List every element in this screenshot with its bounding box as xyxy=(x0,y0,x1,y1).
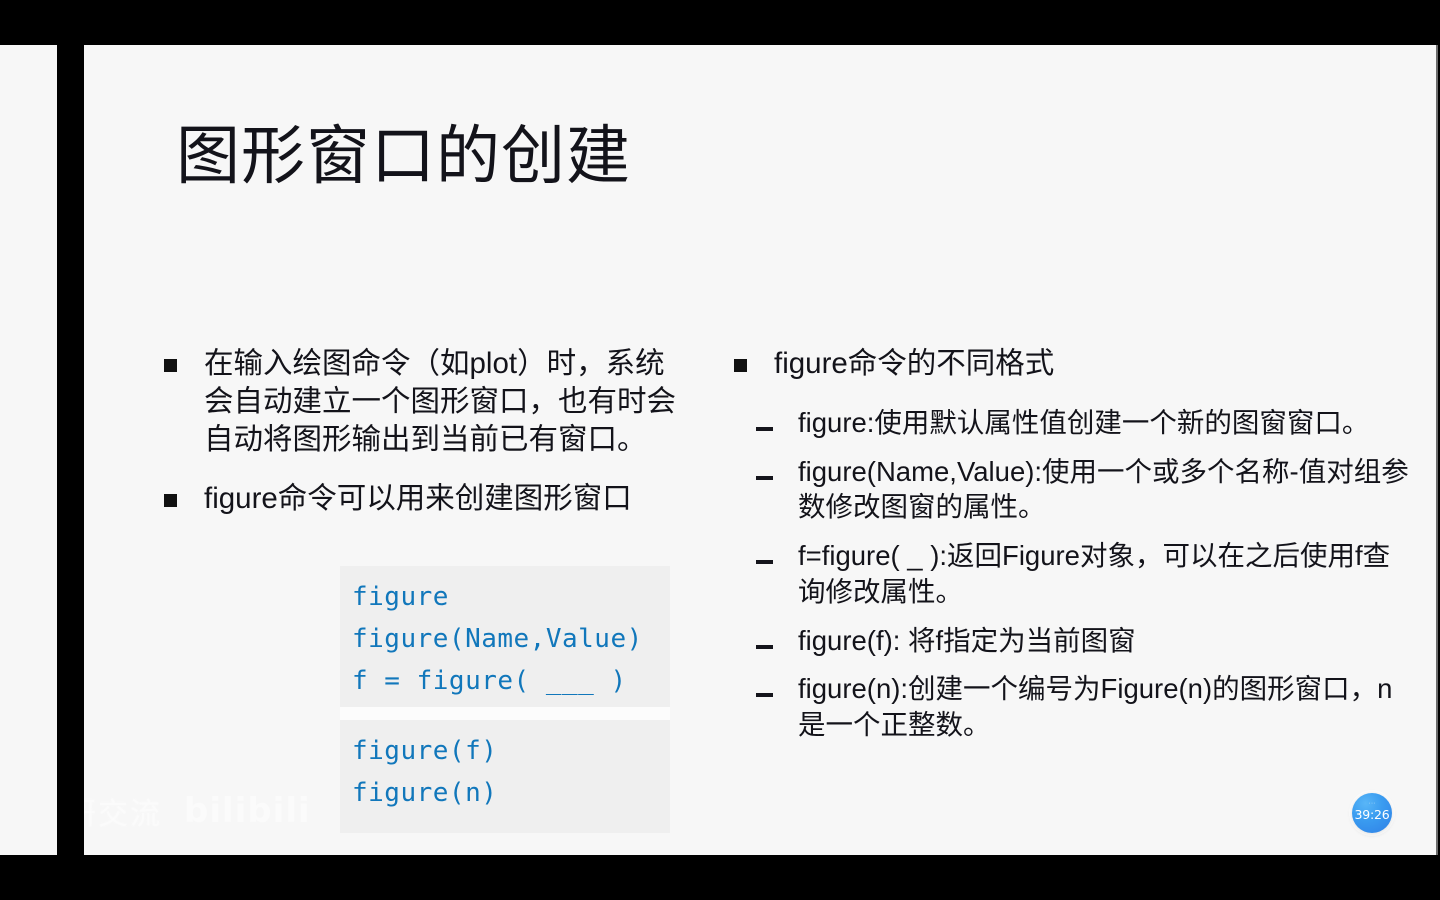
dash-bullet-icon xyxy=(734,538,798,569)
left-content-column: 在输入绘图命令（如plot）时，系统会自动建立一个图形窗口，也有时会自动将图形输… xyxy=(164,345,694,540)
presentation-slide: 图形窗口的创建 在输入绘图命令（如plot）时，系统会自动建立一个图形窗口，也有… xyxy=(84,45,1438,855)
channel-watermark: 科研交流 bilibili xyxy=(84,789,311,833)
code-line: figure(n) xyxy=(340,772,670,814)
list-item-label: 在输入绘图命令（如plot）时，系统会自动建立一个图形窗口，也有时会自动将图形输… xyxy=(204,345,694,458)
code-line: figure(f) xyxy=(340,730,670,772)
vertical-black-band xyxy=(57,45,84,855)
slide-right-border xyxy=(1436,45,1438,855)
code-line: figure(Name,Value) xyxy=(340,618,670,660)
sub-list-item-label: figure:使用默认属性值创建一个新的图窗窗口。 xyxy=(798,405,1414,441)
list-item: figure命令可以用来创建图形窗口 xyxy=(164,480,694,518)
sub-list-item-label: f=figure( _ ):返回Figure对象，可以在之后使用f查询修改属性。 xyxy=(798,538,1414,610)
dash-bullet-icon xyxy=(734,671,798,702)
slide-left-edge-sliver xyxy=(0,45,57,855)
dash-bullet-icon xyxy=(734,623,798,654)
square-bullet-icon xyxy=(734,345,774,377)
page-title: 图形窗口的创建 xyxy=(176,121,631,191)
code-block-separator xyxy=(340,707,670,720)
sub-list-item-label: figure(n):创建一个编号为Figure(n)的图形窗口，n是一个正整数。 xyxy=(798,671,1414,743)
code-line: f = figure( ___ ) xyxy=(340,660,670,702)
video-player-frame: 图形窗口的创建 在输入绘图命令（如plot）时，系统会自动建立一个图形窗口，也有… xyxy=(0,0,1440,900)
watermark-channel-name: 科研交流 xyxy=(84,789,162,833)
timer-tick-marks: ··· xyxy=(1369,800,1376,807)
code-snippet-block: figure figure(Name,Value) f = figure( __… xyxy=(340,566,670,833)
code-line: figure xyxy=(340,576,670,618)
list-item: 在输入绘图命令（如plot）时，系统会自动建立一个图形窗口，也有时会自动将图形输… xyxy=(164,345,694,458)
sub-list-item: figure(Name,Value):使用一个或多个名称-值对组参数修改图窗的属… xyxy=(734,454,1414,526)
dash-bullet-icon xyxy=(734,405,798,436)
bilibili-logo-icon: bilibili xyxy=(184,791,311,831)
square-bullet-icon xyxy=(164,480,204,512)
right-content-column: figure命令的不同格式 figure:使用默认属性值创建一个新的图窗窗口。 … xyxy=(734,345,1414,756)
sub-list-item-label: figure(Name,Value):使用一个或多个名称-值对组参数修改图窗的属… xyxy=(798,454,1414,526)
list-item-label: figure命令的不同格式 xyxy=(774,345,1414,383)
dash-bullet-icon xyxy=(734,454,798,485)
letterbox-top-bar xyxy=(0,0,1440,45)
sub-list-item: f=figure( _ ):返回Figure对象，可以在之后使用f查询修改属性。 xyxy=(734,538,1414,610)
timer-value: 39:26 xyxy=(1354,807,1389,822)
timer-badge[interactable]: ··· 39:26 xyxy=(1352,793,1392,833)
sub-list-item: figure(f): 将f指定为当前图窗 xyxy=(734,623,1414,659)
square-bullet-icon xyxy=(164,345,204,377)
sub-list-item-label: figure(f): 将f指定为当前图窗 xyxy=(798,623,1414,659)
letterbox-bottom-bar xyxy=(0,855,1440,900)
list-item: figure命令的不同格式 xyxy=(734,345,1414,383)
sub-list: figure:使用默认属性值创建一个新的图窗窗口。 figure(Name,Va… xyxy=(734,405,1414,743)
list-item-label: figure命令可以用来创建图形窗口 xyxy=(204,480,694,518)
sub-list-item: figure:使用默认属性值创建一个新的图窗窗口。 xyxy=(734,405,1414,441)
sub-list-item: figure(n):创建一个编号为Figure(n)的图形窗口，n是一个正整数。 xyxy=(734,671,1414,743)
